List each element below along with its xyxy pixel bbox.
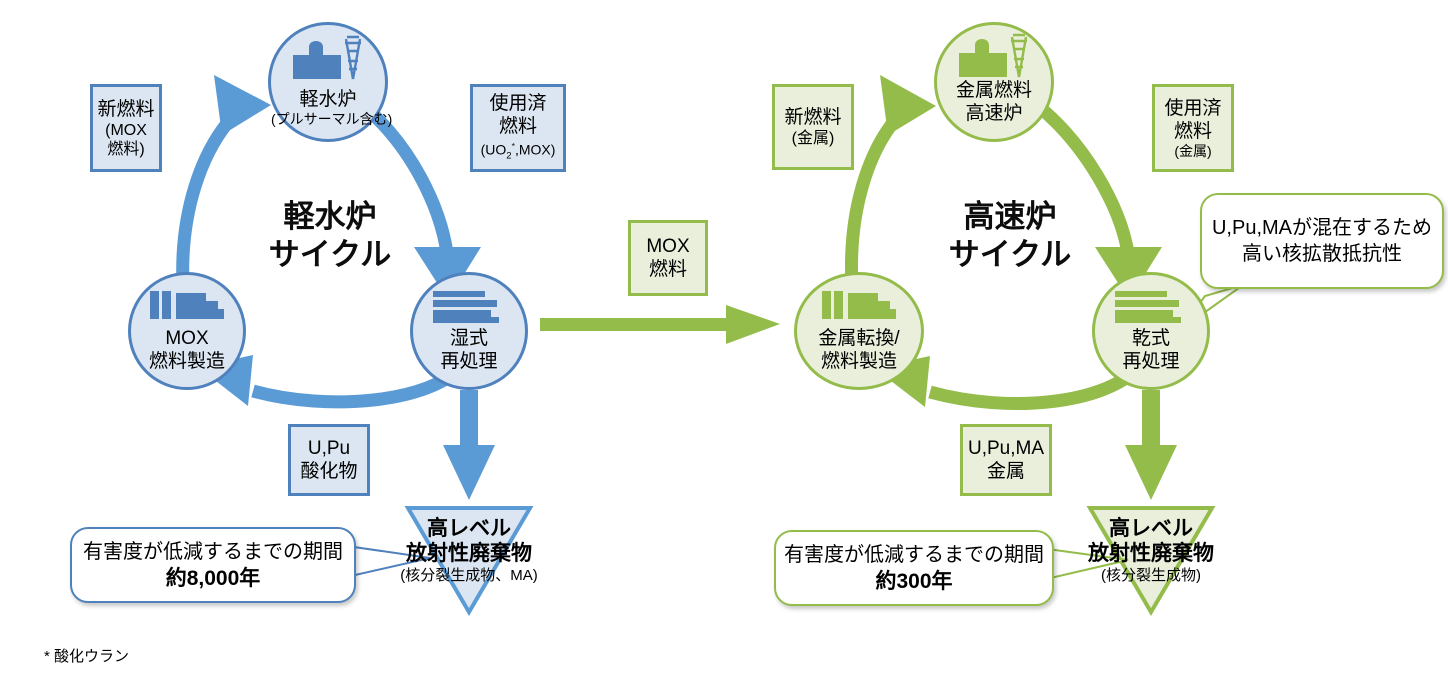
tag-u-pu-ma-metal: U,Pu,MA 金属 xyxy=(960,424,1052,496)
tag-line2: 酸化物 xyxy=(300,460,357,483)
callout-line2: 高い核拡散抵抗性 xyxy=(1242,241,1402,267)
node-mox-fuel-fabrication[interactable]: MOX 燃料製造 xyxy=(128,272,246,390)
tag-line1: U,Pu xyxy=(308,437,350,460)
tag-line1: MOX xyxy=(646,235,689,258)
node-label-line1: 湿式 xyxy=(413,327,525,350)
tag-line2: (MOX xyxy=(105,121,147,140)
waste-label-right: 高レベル 放射性廃棄物 (核分裂生成物) xyxy=(1053,508,1249,618)
tag-line1: 使用済 xyxy=(489,92,546,115)
tag-mox-fuel-transfer: MOX 燃料 xyxy=(628,220,708,296)
waste-line1: 高レベル xyxy=(1053,516,1249,541)
left-cycle-title-line1: 軽水炉 xyxy=(250,198,410,236)
callout-line1: U,Pu,MAが混在するため xyxy=(1212,215,1432,241)
node-wet-reprocessing[interactable]: 湿式 再処理 xyxy=(410,272,528,390)
node-metal-conversion-fuel-fabrication[interactable]: 金属転換/ 燃料製造 xyxy=(794,272,924,390)
tag-line1: 新燃料 xyxy=(97,98,154,121)
node-label-line1: 金属転換/ xyxy=(797,327,921,350)
waste-label-left: 高レベル 放射性廃棄物 (核分裂生成物、MA) xyxy=(369,508,569,618)
tag-line2: 金属 xyxy=(987,460,1025,483)
node-dry-reprocessing[interactable]: 乾式 再処理 xyxy=(1092,272,1210,390)
tag-line3: (UO2*,MOX) xyxy=(481,138,556,164)
node-label-line2: 燃料製造 xyxy=(797,350,921,373)
tag-spent-fuel-metal: 使用済 燃料 (金属) xyxy=(1152,84,1234,172)
power-plant-icon xyxy=(955,33,1033,79)
tag-new-fuel-mox: 新燃料 (MOX 燃料) xyxy=(90,84,162,172)
tag-line3-pre: (UO xyxy=(481,141,507,157)
tag-line2: 燃料 xyxy=(649,258,687,281)
tag-spent-fuel-uo2-mox: 使用済 燃料 (UO2*,MOX) xyxy=(470,84,566,172)
node-label-line1: 乾式 xyxy=(1095,327,1207,350)
power-plant-icon xyxy=(289,35,367,81)
left-cycle-title: 軽水炉 サイクル xyxy=(250,198,410,274)
fuel-assembly-factory-icon xyxy=(820,287,898,325)
node-label-line2: 燃料製造 xyxy=(131,350,243,373)
tag-line3: 燃料) xyxy=(107,140,144,159)
reprocessing-plant-icon xyxy=(1111,287,1191,325)
node-label-line1: 金属燃料 xyxy=(937,79,1051,102)
right-cycle-title: 高速炉 サイクル xyxy=(930,198,1090,274)
node-light-water-reactor[interactable]: 軽水炉 (プルサーマル含む) xyxy=(268,22,388,142)
tag-line2: 燃料 xyxy=(499,115,537,138)
waste-line3: (核分裂生成物、MA) xyxy=(369,567,569,585)
right-cycle-title-line2: サイクル xyxy=(930,236,1090,274)
fuel-assembly-factory-icon xyxy=(148,287,226,325)
callout-line2: 約300年 xyxy=(875,568,952,595)
tag-line1: 新燃料 xyxy=(784,106,841,129)
node-label-line2: 再処理 xyxy=(1095,350,1207,373)
waste-line1: 高レベル xyxy=(369,516,569,541)
callout-harm-reduction-right: 有害度が低減するまでの期間 約300年 xyxy=(774,530,1054,606)
waste-line3: (核分裂生成物) xyxy=(1053,567,1249,585)
node-label-line2: 高速炉 xyxy=(937,102,1051,125)
tag-u-pu-oxide: U,Pu 酸化物 xyxy=(288,424,370,496)
diagram-canvas: 軽水炉 (プルサーマル含む) MOX 燃料製造 湿式 再処理 軽水炉 サイクル xyxy=(0,0,1448,682)
node-label-line1: 軽水炉 xyxy=(271,88,385,111)
callout-line1: 有害度が低減するまでの期間 xyxy=(83,539,343,565)
right-cycle-title-line1: 高速炉 xyxy=(930,198,1090,236)
tag-line2: (金属) xyxy=(792,129,835,148)
tag-new-fuel-metal: 新燃料 (金属) xyxy=(772,84,854,170)
callout-line2: 約8,000年 xyxy=(166,565,261,592)
footnote: * 酸化ウラン xyxy=(44,648,129,666)
reprocessing-plant-icon xyxy=(429,287,509,325)
node-metal-fuel-fast-reactor[interactable]: 金属燃料 高速炉 xyxy=(934,22,1054,142)
waste-line2: 放射性廃棄物 xyxy=(1053,541,1249,567)
arrow-mox-transfer xyxy=(540,305,780,344)
callout-harm-reduction-left: 有害度が低減するまでの期間 約8,000年 xyxy=(70,527,356,603)
left-cycle-title-line2: サイクル xyxy=(250,236,410,274)
callout-proliferation-resistance: U,Pu,MAが混在するため 高い核拡散抵抗性 xyxy=(1200,193,1444,289)
arrow-dryreprocessing-to-waste xyxy=(1125,390,1177,500)
tag-line1: U,Pu,MA xyxy=(968,437,1044,460)
callout-line1: 有害度が低減するまでの期間 xyxy=(784,542,1044,568)
arrow-metalfab-to-reactor xyxy=(851,75,936,286)
tag-line3: (金属) xyxy=(1174,143,1211,160)
arrow-reprocessing-to-waste xyxy=(443,390,495,500)
tag-line2: 燃料 xyxy=(1174,120,1212,143)
tag-line3-post: ,MOX) xyxy=(515,141,555,157)
waste-line2: 放射性廃棄物 xyxy=(369,541,569,567)
tag-line1: 使用済 xyxy=(1164,97,1221,120)
node-label-line2: (プルサーマル含む) xyxy=(271,111,385,127)
node-label-line1: MOX xyxy=(131,327,243,350)
node-label-line2: 再処理 xyxy=(413,350,525,373)
tag-line3-sub: 2 xyxy=(506,150,511,161)
